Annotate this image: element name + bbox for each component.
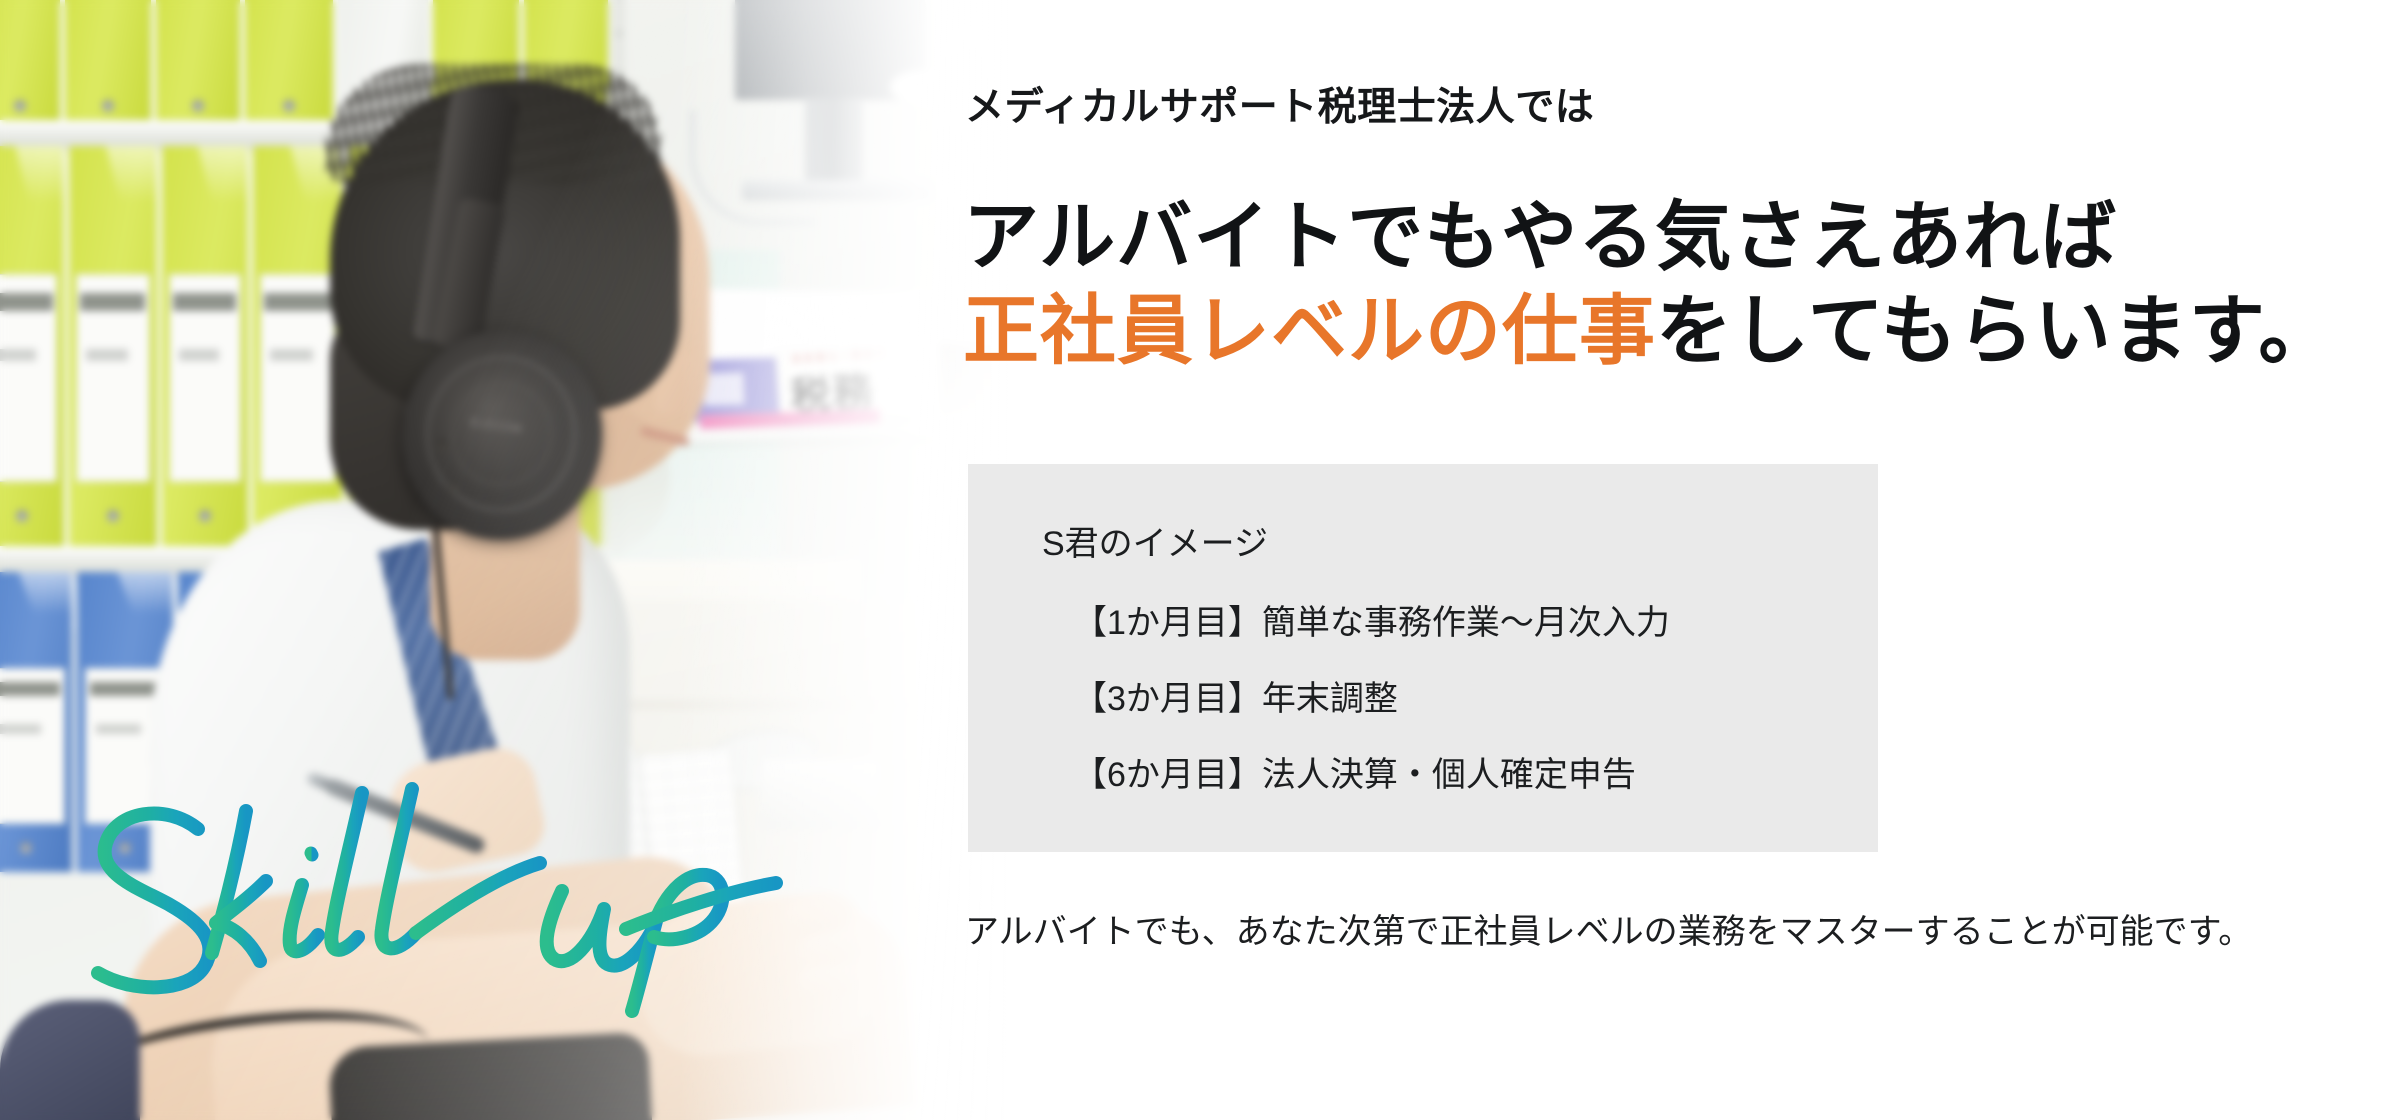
eyebrow-text: メディカルサポート税理士法人では [965,76,1594,132]
career-timeline-title: S君のイメージ [1042,516,1268,565]
headline-line-2: 正社員レベルの仕事をしてもらいます。 [963,284,2335,378]
career-timeline-item: 【3か月目】年末調整 [1073,671,1398,720]
headline-line-1: アルバイトでもやる気さえあれば [963,190,2335,284]
footnote-text: アルバイトでも、あなた次第で正社員レベルの業務をマスターすることが可能です。 [965,905,2325,960]
hero-banner: 税務署も一目おく 税務 [0,0,2400,1120]
headline-line-2-rest: をしてもらいます。 [1656,286,2335,375]
headline: アルバイトでもやる気さえあれば 正社員レベルの仕事をしてもらいます。 [963,190,2335,378]
career-timeline-item: 【6か月目】法人決算・個人確定申告 [1073,747,1636,796]
photo-right-fade [680,0,1010,1120]
career-timeline-item: 【1か月目】簡単な事務作業〜月次入力 [1073,595,1670,644]
content-column: メディカルサポート税理士法人では アルバイトでもやる気さえあれば 正社員レベルの… [965,0,2395,1120]
career-timeline-box: S君のイメージ 【1か月目】簡単な事務作業〜月次入力 【3か月目】年末調整 【6… [968,464,1878,852]
office-worker-photo: 税務署も一目おく 税務 [0,0,1010,1120]
headline-highlight: 正社員レベルの仕事 [963,286,1656,375]
